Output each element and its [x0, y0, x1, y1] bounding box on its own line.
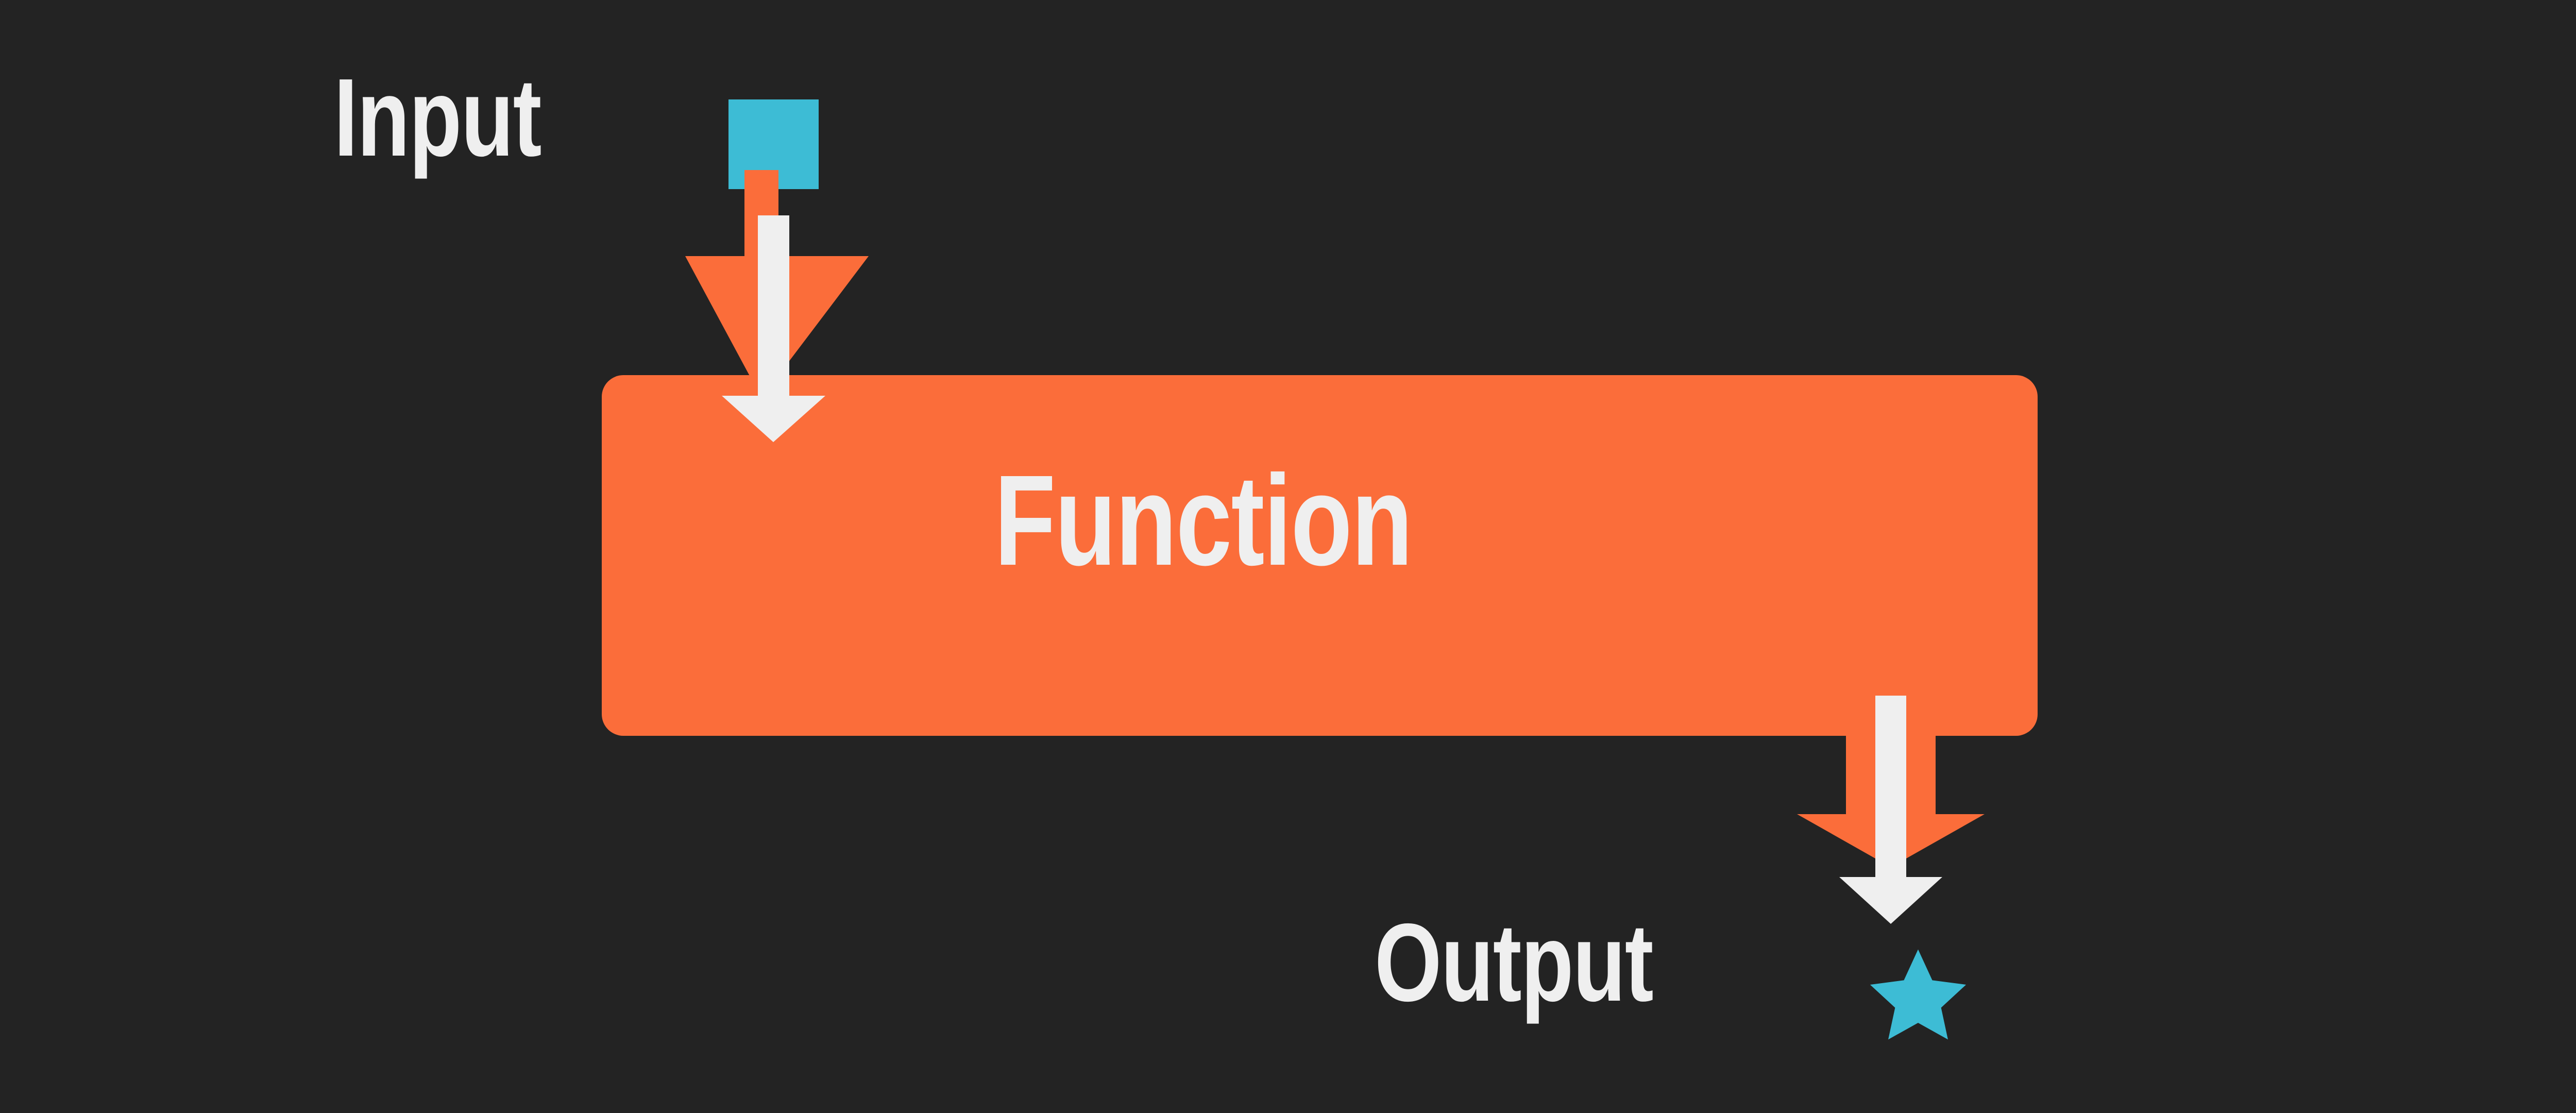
star-icon: [1869, 947, 1967, 1041]
star-shape: [1870, 950, 1966, 1040]
function-label: Function: [994, 456, 1412, 585]
arrow-down-icon: [685, 170, 869, 398]
diagram-canvas: Input Function Output: [0, 0, 2576, 1113]
square-icon: [728, 99, 819, 189]
input-label: Input: [334, 62, 541, 173]
output-label: Output: [1375, 907, 1653, 1018]
